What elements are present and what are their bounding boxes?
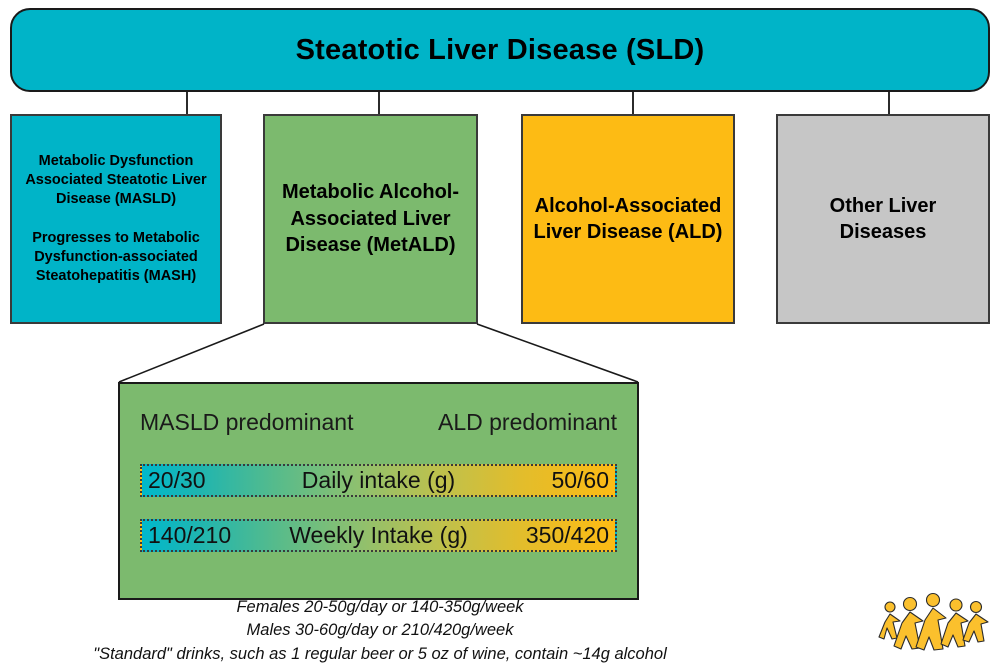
category-label-masld-secondary: Progresses to Metabolic Dysfunction-asso… <box>20 229 212 286</box>
category-box-masld: Metabolic Dysfunction Associated Steatot… <box>10 114 222 324</box>
category-label-ald: Alcohol-Associated Liver Disease (ALD) <box>531 193 725 246</box>
weekly-intake-bar: 140/210 Weekly Intake (g) 350/420 <box>140 519 617 552</box>
page-title: Steatotic Liver Disease (SLD) <box>296 34 705 67</box>
metald-detail-panel: MASLD predominant ALD predominant 20/30 … <box>118 382 639 600</box>
footnote-females: Females 20-50g/day or 140-350g/week <box>0 596 760 619</box>
connector-line-ald <box>632 92 634 114</box>
weekly-intake-left-value: 140/210 <box>148 522 231 549</box>
category-label-masld-primary: Metabolic Dysfunction Associated Steatot… <box>20 152 212 209</box>
sld-header-box: Steatotic Liver Disease (SLD) <box>10 8 990 92</box>
daily-intake-label: Daily intake (g) <box>142 467 615 494</box>
category-box-ald: Alcohol-Associated Liver Disease (ALD) <box>521 114 735 324</box>
daily-intake-right-value: 50/60 <box>551 467 609 494</box>
weekly-intake-right-value: 350/420 <box>526 522 609 549</box>
footnote-standard-drink: "Standard" drinks, such as 1 regular bee… <box>0 643 760 666</box>
daily-intake-left-value: 20/30 <box>148 467 206 494</box>
predominance-row: MASLD predominant ALD predominant <box>140 408 617 437</box>
ald-predominant-label: ALD predominant <box>438 408 617 437</box>
category-label-other: Other Liver Diseases <box>786 193 980 246</box>
diagram-canvas: Steatotic Liver Disease (SLD) Metabolic … <box>0 0 1000 667</box>
connector-line-metald <box>378 92 380 114</box>
group-of-people-icon <box>876 592 992 662</box>
category-box-other-liver-diseases: Other Liver Diseases <box>776 114 990 324</box>
connector-line-other <box>888 92 890 114</box>
category-label-metald: Metabolic Alcohol-Associated Liver Disea… <box>273 179 468 258</box>
funnel-connector <box>0 320 1000 390</box>
footnote-males: Males 30-60g/day or 210/420g/week <box>0 619 760 642</box>
footnotes: Females 20-50g/day or 140-350g/week Male… <box>0 596 760 666</box>
connector-line-masld <box>186 92 188 114</box>
daily-intake-bar: 20/30 Daily intake (g) 50/60 <box>140 464 617 497</box>
category-box-metald: Metabolic Alcohol-Associated Liver Disea… <box>263 114 478 324</box>
masld-predominant-label: MASLD predominant <box>140 408 354 437</box>
